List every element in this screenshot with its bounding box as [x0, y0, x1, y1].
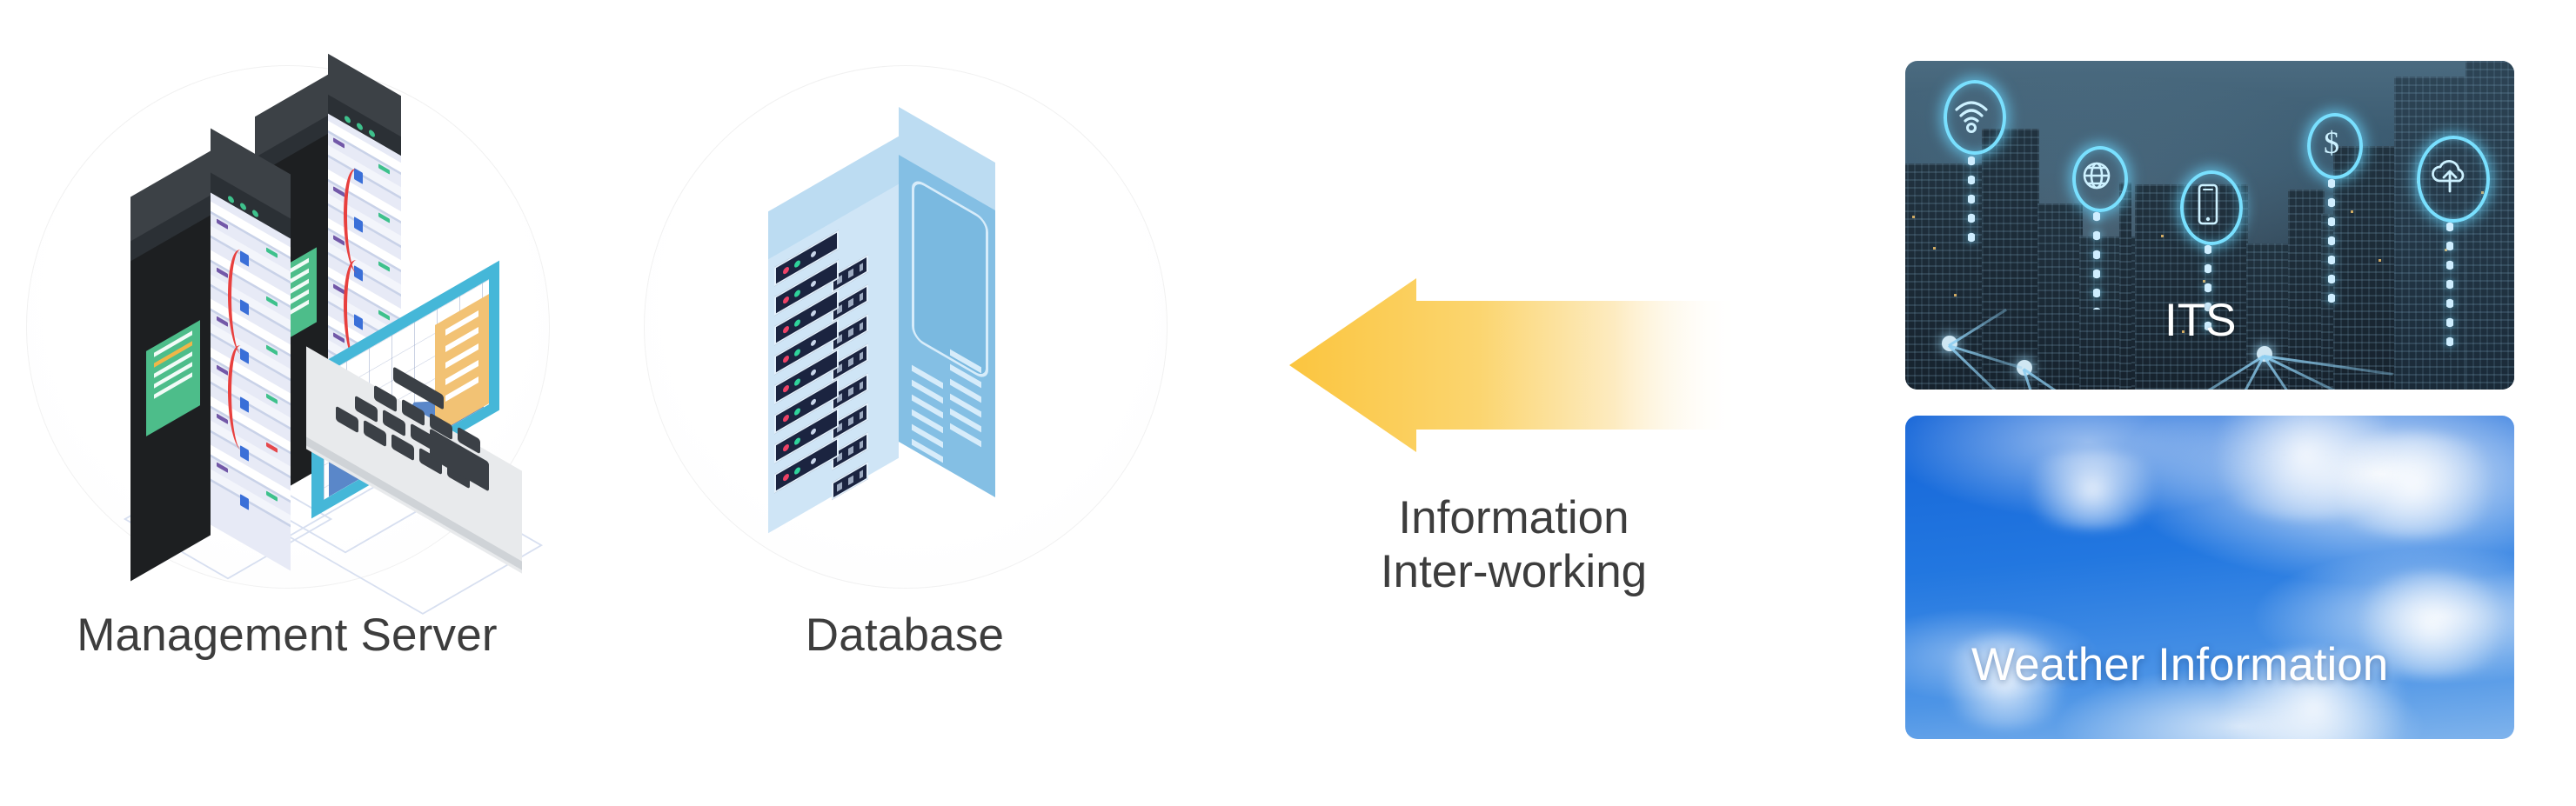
arrow-left-icon: [1288, 278, 1740, 452]
diagram-canvas: Management Server: [0, 0, 2576, 806]
cloud: [2314, 433, 2514, 537]
globe-connector-dots: [2093, 207, 2100, 310]
node-label-database: Database: [644, 609, 1166, 662]
node-label-management-server: Management Server: [0, 609, 574, 662]
building: [2079, 236, 2144, 390]
card-its[interactable]: $ ITS: [1905, 61, 2514, 390]
information-interworking-arrow-group[interactable]: Information Inter-working: [1288, 278, 1740, 609]
card-label-its: ITS: [2165, 294, 2236, 347]
dollar-connector-dots: [2328, 174, 2335, 304]
card-weather[interactable]: Weather Information: [1905, 416, 2514, 739]
building: [1982, 129, 2039, 390]
building-glass: [2394, 77, 2469, 390]
wifi-connector-dots: [1968, 151, 1975, 249]
database-vents-left: [912, 365, 943, 472]
crane-mast: [2119, 183, 2131, 390]
database-vents-right: [950, 350, 981, 456]
cloud-connector-dots: [2446, 217, 2453, 356]
card-label-weather: Weather Information: [1971, 638, 2388, 691]
building: [2333, 146, 2401, 390]
building-glass: [2466, 61, 2514, 390]
building: [2037, 203, 2083, 390]
arrow-label: Information Inter-working: [1235, 491, 1792, 599]
cloud: [2010, 450, 2175, 529]
